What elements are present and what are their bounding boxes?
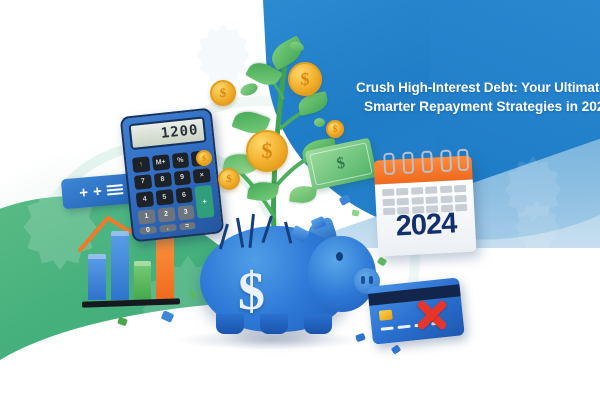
bar-3 xyxy=(134,261,152,300)
headline-line-2: Smarter Repayment Strategies in 202 xyxy=(356,97,600,116)
gear-icon-4 xyxy=(508,196,566,254)
close-icon xyxy=(414,296,450,332)
card-number-line xyxy=(381,326,394,330)
confetti xyxy=(351,209,359,216)
calculator-key[interactable]: 8 xyxy=(153,172,171,188)
coin: $ xyxy=(326,120,344,138)
calculator-key[interactable]: 9 xyxy=(173,170,191,186)
page-title: Crush High-Interest Debt: Your Ultimate … xyxy=(356,78,600,116)
calendar-ring xyxy=(457,149,469,172)
calculator-key[interactable]: ↑ xyxy=(132,156,150,172)
calculator-key[interactable]: M+ xyxy=(152,154,170,170)
calculator-display-value: 1200 xyxy=(160,122,199,142)
calendar-ring xyxy=(440,150,452,173)
headline-line-1: Crush High-Interest Debt: Your Ultimate … xyxy=(356,78,600,97)
coin: $ xyxy=(218,168,240,190)
coin-symbol: $ xyxy=(301,69,310,90)
coin: $ xyxy=(210,80,236,106)
coin: $ xyxy=(196,150,212,166)
piggy-bank: $ xyxy=(196,212,378,342)
coin-symbol: $ xyxy=(262,138,273,164)
calendar-year: 2024 xyxy=(376,206,476,244)
card-number-line xyxy=(397,325,410,329)
bar-1 xyxy=(88,254,106,300)
coin-symbol: $ xyxy=(220,85,227,101)
coin-symbol: $ xyxy=(333,124,338,134)
piggy-dollar-sign: $ xyxy=(238,264,265,318)
calculator-key[interactable]: % xyxy=(171,152,189,168)
banknote-symbol: $ xyxy=(335,154,347,173)
illustration-banner: Crush High-Interest Debt: Your Ultimate … xyxy=(0,0,600,400)
coin-symbol: $ xyxy=(226,173,232,185)
piggy-leg xyxy=(304,314,332,334)
calculator-key[interactable]: 7 xyxy=(134,174,152,190)
calendar-ring xyxy=(402,152,414,175)
coin: $ xyxy=(288,62,322,96)
calendar: 2024 xyxy=(374,156,477,257)
leaf-small xyxy=(314,118,325,127)
calculator-key[interactable]: 2 xyxy=(157,206,175,222)
card-chip-icon xyxy=(379,310,393,321)
calendar-body: 2024 xyxy=(375,179,477,256)
calculator-key[interactable]: 3 xyxy=(177,204,195,220)
calculator-key[interactable]: 4 xyxy=(136,191,154,207)
calculator-key[interactable]: 1 xyxy=(138,209,156,225)
calculator-key[interactable]: × xyxy=(193,168,211,184)
piggy-eye xyxy=(336,252,343,261)
calendar-ring xyxy=(383,153,395,176)
coin: $ xyxy=(246,130,288,172)
calendar-ring xyxy=(421,151,433,174)
calculator-key[interactable]: 6 xyxy=(175,187,193,203)
calculator-key[interactable]: 5 xyxy=(155,189,173,205)
bar-2 xyxy=(111,231,129,300)
coin-symbol: $ xyxy=(202,154,206,163)
